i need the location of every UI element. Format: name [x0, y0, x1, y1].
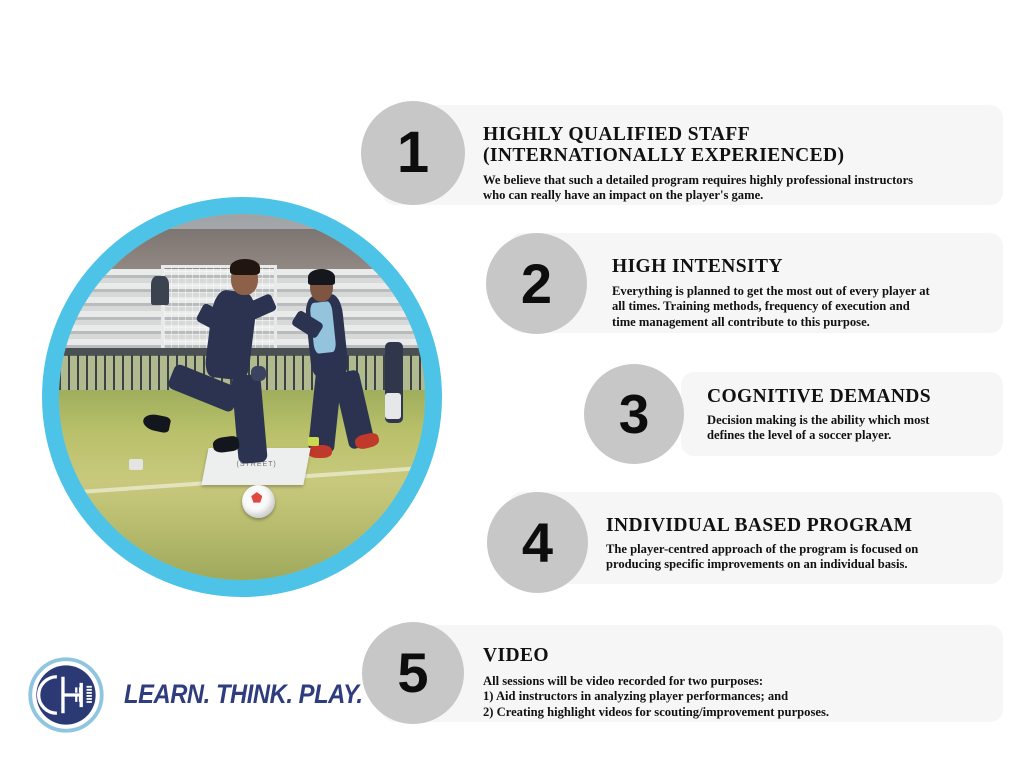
photo-player-b-shoe-left [308, 445, 332, 459]
benefit-number-badge-2: 2 [486, 233, 587, 334]
photo-player-b-hat [308, 269, 335, 285]
benefit-title-3: COGNITIVE DEMANDS [707, 387, 1007, 408]
benefit-body-1: We believe that such a detailed program … [483, 173, 998, 204]
benefit-body-3: Decision making is the ability which mos… [707, 413, 1002, 444]
benefit-number-1: 1 [397, 124, 429, 182]
brand-tagline: LEARN. THINK. PLAY. [124, 679, 363, 710]
benefit-title-2: HIGH INTENSITY [612, 257, 1002, 278]
club-crest-logo-icon [28, 657, 104, 733]
benefit-number-3: 3 [619, 387, 650, 442]
benefit-body-4: The player-centred approach of the progr… [606, 542, 1001, 573]
photo-player-a-hair [230, 259, 260, 276]
benefit-title-1: HIGHLY QUALIFIED STAFF (INTERNATIONALLY … [483, 125, 1003, 167]
benefit-number-badge-5: 5 [362, 622, 464, 724]
photo-player-a-glove [251, 366, 266, 381]
benefit-number-4: 4 [522, 515, 553, 571]
benefit-number-badge-3: 3 [584, 364, 684, 464]
photo-soccer-ball [242, 485, 275, 518]
training-photo: (STREET) [42, 197, 442, 597]
benefit-body-5: All sessions will be video recorded for … [483, 674, 998, 720]
photo-cone-2 [308, 437, 319, 446]
footer-brand: LEARN. THINK. PLAY. [28, 655, 358, 737]
photo-cone-1 [129, 459, 144, 470]
benefit-title-5: VIDEO [483, 646, 998, 667]
benefit-title-4: INDIVIDUAL BASED PROGRAM [606, 516, 1001, 537]
benefit-number-badge-1: 1 [361, 101, 465, 205]
benefit-number-5: 5 [397, 645, 428, 701]
photo-player-c-sock [385, 393, 401, 419]
benefit-number-badge-4: 4 [487, 492, 588, 593]
benefit-body-2: Everything is planned to get the most ou… [612, 284, 1002, 330]
photo-spectator [151, 276, 169, 305]
benefit-number-2: 2 [521, 256, 552, 312]
training-photo-image: (STREET) [59, 214, 425, 580]
